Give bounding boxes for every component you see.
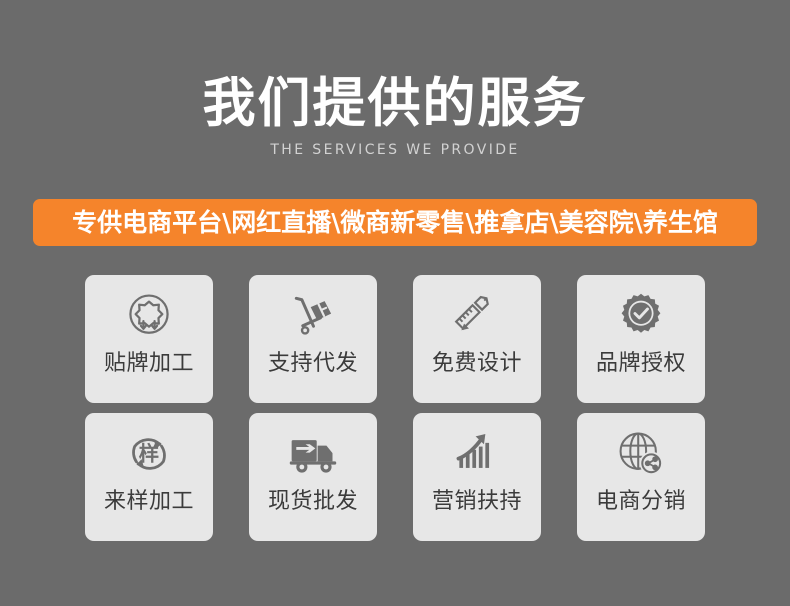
service-card-label: 现货批发 <box>268 489 358 515</box>
delivery-truck-icon <box>285 426 341 482</box>
service-card-oem[interactable]: 贴牌加工 <box>85 275 213 403</box>
scope-banner-text: 专供电商平台\网红直播\微商新零售\推拿店\美容院\养生馆 <box>72 210 718 235</box>
service-card-label: 支持代发 <box>268 351 358 377</box>
pencil-ruler-icon <box>449 288 505 344</box>
service-card-label: 品牌授权 <box>596 351 686 377</box>
service-card-wholesale[interactable]: 现货批发 <box>249 413 377 541</box>
svg-text:样: 样 <box>139 442 159 466</box>
service-card-label: 营销扶持 <box>432 489 522 515</box>
service-card-label: 来样加工 <box>104 489 194 515</box>
certified-check-icon <box>613 288 669 344</box>
service-card-label: 免费设计 <box>432 351 522 377</box>
service-card-marketing-support[interactable]: 营销扶持 <box>413 413 541 541</box>
growth-chart-icon <box>449 426 505 482</box>
scope-banner: 专供电商平台\网红直播\微商新零售\推拿店\美容院\养生馆 <box>33 199 757 246</box>
medal-badge-icon <box>121 288 177 344</box>
service-card-label: 贴牌加工 <box>104 351 194 377</box>
service-card-brand-authorization[interactable]: 品牌授权 <box>577 275 705 403</box>
service-card-ecommerce-distribution[interactable]: 电商分销 <box>577 413 705 541</box>
hand-truck-icon <box>285 288 341 344</box>
service-card-dropship[interactable]: 支持代发 <box>249 275 377 403</box>
globe-share-icon <box>613 426 669 482</box>
service-section: 我们提供的服务 THE SERVICES WE PROVIDE 专供电商平台\网… <box>0 0 790 606</box>
service-card-design[interactable]: 免费设计 <box>413 275 541 403</box>
services-grid: 贴牌加工 支持代发 <box>85 275 705 541</box>
sample-cycle-icon: 样 <box>121 426 177 482</box>
section-header: 我们提供的服务 THE SERVICES WE PROVIDE <box>0 74 790 158</box>
page-subtitle: THE SERVICES WE PROVIDE <box>0 142 790 158</box>
service-card-sample-processing[interactable]: 样 来样加工 <box>85 413 213 541</box>
service-card-label: 电商分销 <box>596 489 686 515</box>
page-title: 我们提供的服务 <box>0 74 790 133</box>
